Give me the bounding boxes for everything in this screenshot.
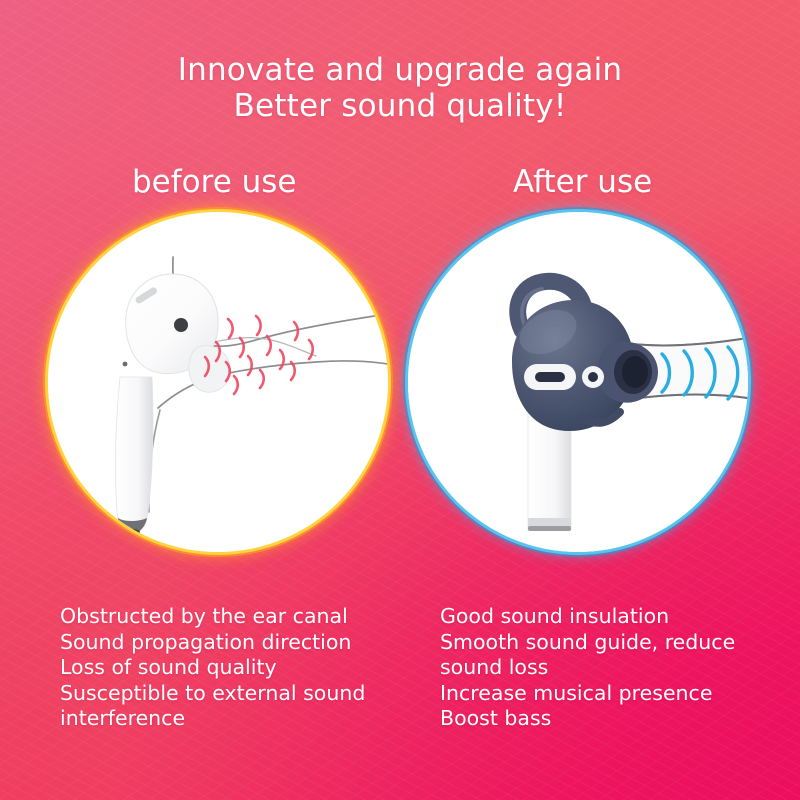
headline-line-2: Better sound quality! (0, 88, 800, 124)
panel-label-before: before use (132, 165, 297, 199)
bullets-after-use: Good sound insulation Smooth sound guide… (440, 604, 780, 732)
before-use-illustration-svg (48, 212, 388, 552)
bullet-line: Loss of sound quality (60, 655, 420, 681)
bullet-line: Smooth sound guide, reduce (440, 630, 780, 656)
page-headline: Innovate and upgrade again Better sound … (0, 52, 800, 124)
bullet-line: Boost bass (440, 706, 780, 732)
panel-label-after: After use (513, 165, 652, 199)
bullet-line: sound loss (440, 655, 780, 681)
bullet-line: Increase musical presence (440, 681, 780, 707)
bullet-line: Good sound insulation (440, 604, 780, 630)
illustration-after-use (408, 212, 748, 552)
bullets-before-use: Obstructed by the ear canal Sound propag… (60, 604, 420, 732)
infographic-page: Innovate and upgrade again Better sound … (0, 0, 800, 800)
after-use-illustration-svg (408, 212, 748, 552)
bullet-line: Sound propagation direction (60, 630, 420, 656)
illustration-before-use (48, 212, 388, 552)
bullet-line: Obstructed by the ear canal (60, 604, 420, 630)
headline-line-1: Innovate and upgrade again (178, 52, 622, 88)
bullet-line: interference (60, 706, 420, 732)
bullet-line: Susceptible to external sound (60, 681, 420, 707)
